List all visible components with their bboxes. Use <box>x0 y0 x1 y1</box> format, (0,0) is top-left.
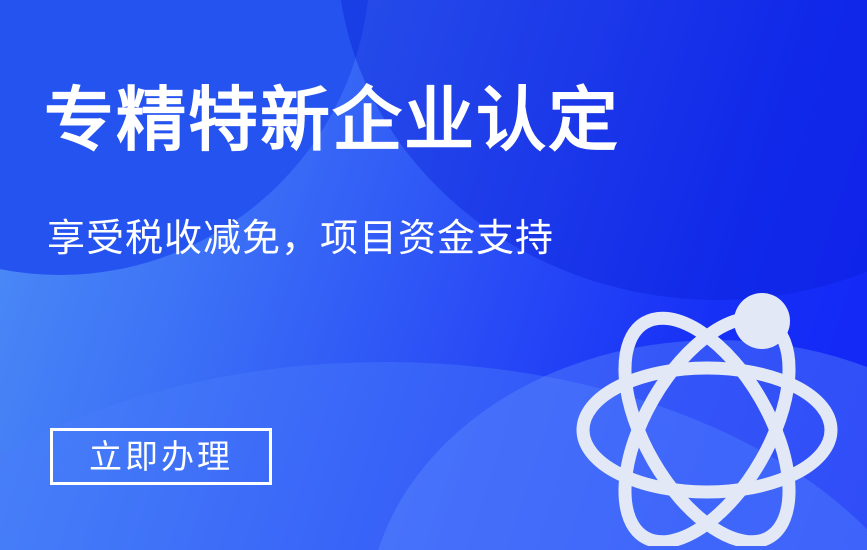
apply-now-button-label: 立即办理 <box>89 440 233 473</box>
promo-banner: 专精特新企业认定 享受税收减免，项目资金支持 立即办理 <box>0 0 867 550</box>
apply-now-button[interactable]: 立即办理 <box>50 428 272 485</box>
page-title: 专精特新企业认定 <box>44 83 620 159</box>
banner-subtitle: 享受税收减免，项目资金支持 <box>47 217 554 263</box>
banner-content: 专精特新企业认定 享受税收减免，项目资金支持 立即办理 <box>0 0 867 550</box>
